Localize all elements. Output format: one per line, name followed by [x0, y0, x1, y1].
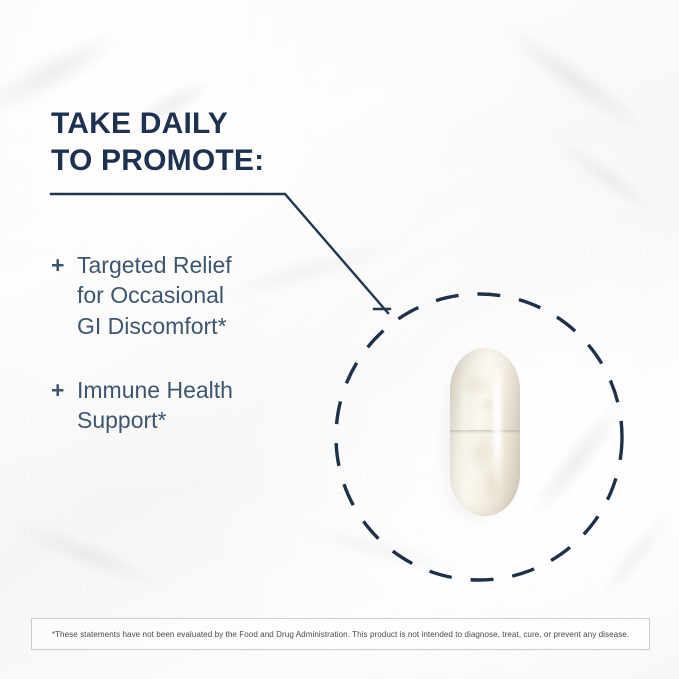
- capsule-cap-half: [450, 348, 520, 432]
- dashed-highlight-circle: [0, 0, 679, 679]
- capsule-highlight: [493, 362, 502, 498]
- capsule-secondary-highlight: [462, 368, 467, 478]
- disclaimer-text: *These statements have not been evaluate…: [52, 630, 629, 639]
- disclaimer-box: *These statements have not been evaluate…: [31, 618, 650, 650]
- capsule-seam: [450, 430, 520, 435]
- product-benefits-image: TAKE DAILY TO PROMOTE: + Targeted Relief…: [0, 0, 679, 679]
- supplement-capsule: [450, 348, 520, 516]
